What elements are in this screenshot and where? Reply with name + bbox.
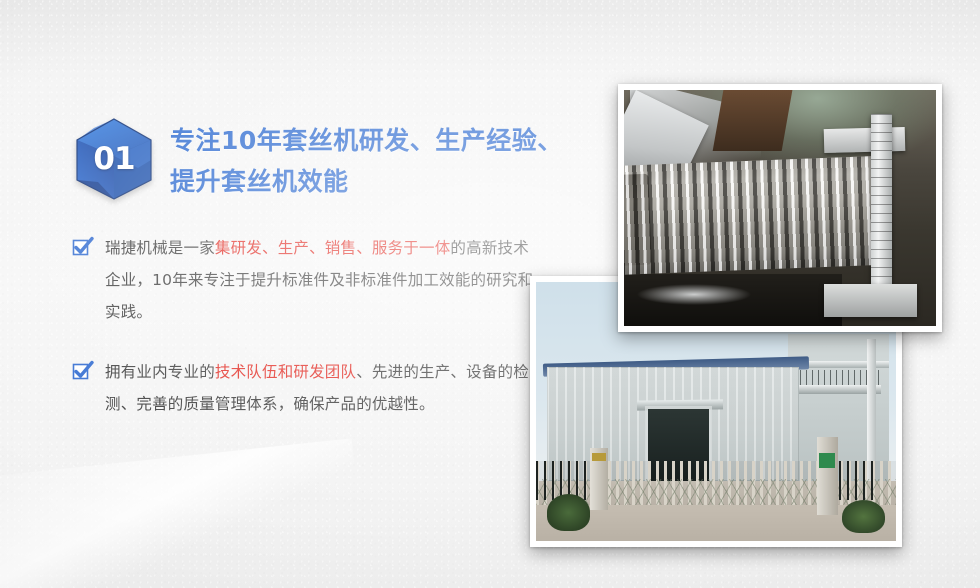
content-column: 01 专注10年套丝机研发、生产经验、 提升套丝机效能 瑞捷机械是一家集研发、生… xyxy=(72,112,542,448)
gate-pillar-left xyxy=(590,448,608,510)
step-number-badge: 01 xyxy=(72,116,156,202)
list-item-text: 拥有业内专业的技术队伍和研发团队、先进的生产、设备的检测、完善的质量管理体系，确… xyxy=(105,356,542,420)
text-segment: 瑞捷机械是一家 xyxy=(105,239,215,257)
headline-line-1: 专注10年套丝机研发、生产经验、 xyxy=(170,120,563,161)
bush-right xyxy=(842,500,885,534)
bush-left xyxy=(547,494,590,530)
list-item: 拥有业内专业的技术队伍和研发团队、先进的生产、设备的检测、完善的质量管理体系，确… xyxy=(72,356,542,420)
checkbox-checked-icon xyxy=(72,237,92,257)
list-item: 瑞捷机械是一家集研发、生产、销售、服务于一体的高新技术企业，10年来专注于提升标… xyxy=(72,232,542,328)
thread-grooves xyxy=(624,156,882,275)
caliper-jaw xyxy=(823,127,905,153)
green-sign xyxy=(819,453,835,469)
list-item-text: 瑞捷机械是一家集研发、生产、销售、服务于一体的高新技术企业，10年来专注于提升标… xyxy=(105,232,542,328)
badge-number: 01 xyxy=(72,116,156,202)
headline-row: 01 专注10年套丝机研发、生产经验、 提升套丝机效能 xyxy=(72,112,542,202)
text-segment-highlight: 集研发、生产、销售、服务于一体 xyxy=(215,239,451,257)
caliper-ticks xyxy=(871,114,893,312)
caliper-base xyxy=(824,284,918,317)
rusty-bracket xyxy=(712,90,791,151)
page-title: 专注10年套丝机研发、生产经验、 提升套丝机效能 xyxy=(170,120,563,202)
feature-list: 瑞捷机械是一家集研发、生产、销售、服务于一体的高新技术企业，10年来专注于提升标… xyxy=(72,232,542,420)
background-light-streak xyxy=(0,438,366,588)
headline-line-2: 提升套丝机效能 xyxy=(170,161,563,202)
machine-bed xyxy=(624,274,842,326)
text-segment: 拥有业内专业的 xyxy=(105,363,215,381)
gate-pillar-right xyxy=(817,437,839,515)
caliper-scale xyxy=(871,114,893,312)
company-plate xyxy=(592,453,606,462)
checkbox-checked-icon xyxy=(72,361,92,381)
promo-banner: 01 专注10年套丝机研发、生产经验、 提升套丝机效能 瑞捷机械是一家集研发、生… xyxy=(0,0,980,588)
threaded-rod-photo-canvas xyxy=(624,90,936,326)
threaded-rod xyxy=(624,156,882,275)
text-segment-highlight: 技术队伍和研发团队 xyxy=(215,363,356,381)
threaded-rod-caliper-photo xyxy=(618,84,942,332)
